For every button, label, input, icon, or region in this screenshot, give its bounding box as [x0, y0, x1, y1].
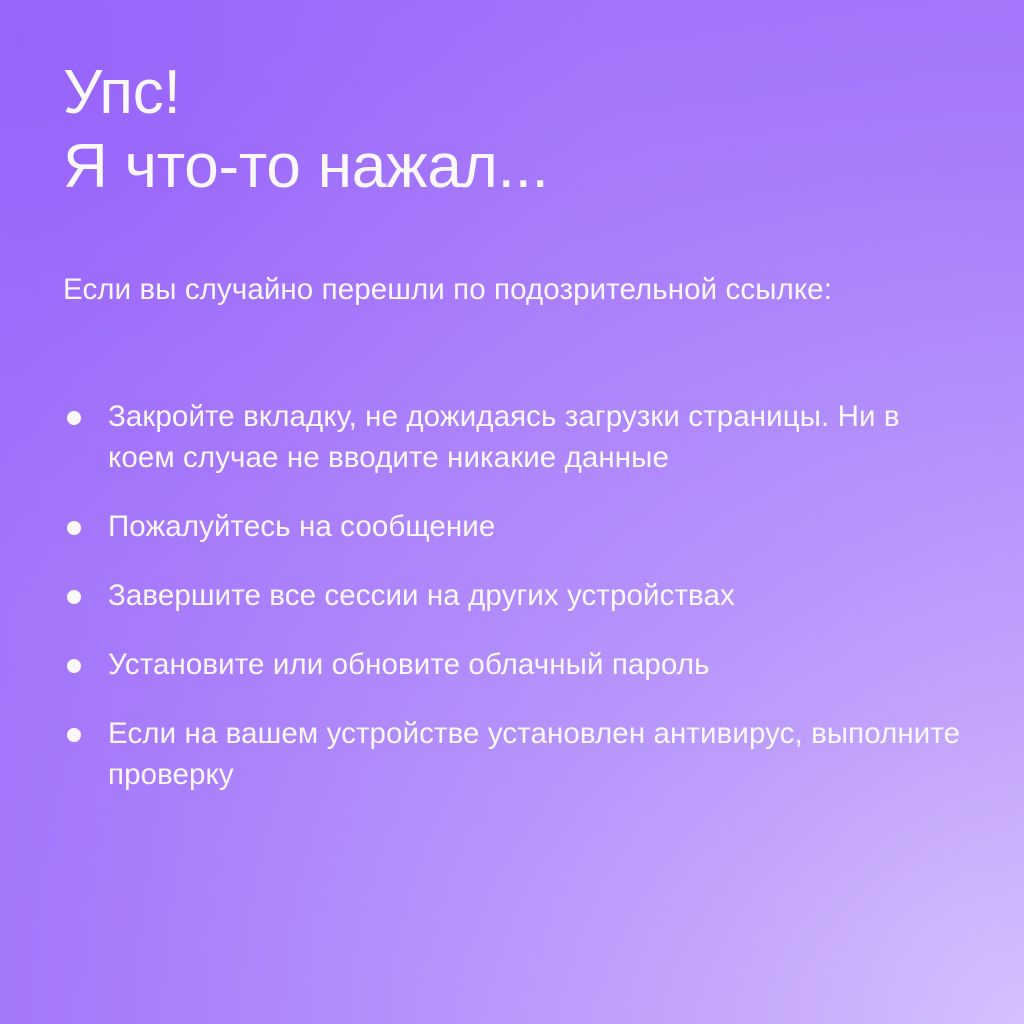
list-item: Установите или обновите облачный пароль — [63, 644, 963, 685]
bullet-dot-icon — [67, 521, 81, 535]
list-item-label: Установите или обновите облачный пароль — [108, 644, 963, 685]
bullet-dot-icon — [67, 411, 81, 425]
list-item-label: Закройте вкладку, не дожидаясь загрузки … — [108, 396, 963, 478]
list-item-label: Если на вашем устройстве установлен анти… — [108, 713, 963, 795]
list-item: Завершите все сессии на других устройств… — [63, 575, 963, 616]
list-item-label: Пожалуйтесь на сообщение — [108, 506, 963, 547]
bullet-dot-icon — [67, 728, 81, 742]
bullet-dot-icon — [67, 659, 81, 673]
list-item: Если на вашем устройстве установлен анти… — [63, 713, 963, 795]
bullet-dot-icon — [67, 590, 81, 604]
list-item-label: Завершите все сессии на других устройств… — [108, 575, 963, 616]
list-item: Закройте вкладку, не дожидаясь загрузки … — [63, 396, 963, 478]
subtitle-text: Если вы случайно перешли по подозрительн… — [63, 269, 893, 310]
advice-list: Закройте вкладку, не дожидаясь загрузки … — [63, 396, 963, 795]
security-tips-slide: Упс! Я что-то нажал... Если вы случайно … — [0, 0, 1024, 1024]
list-item: Пожалуйтесь на сообщение — [63, 506, 963, 547]
page-title: Упс! Я что-то нажал... — [63, 56, 549, 204]
